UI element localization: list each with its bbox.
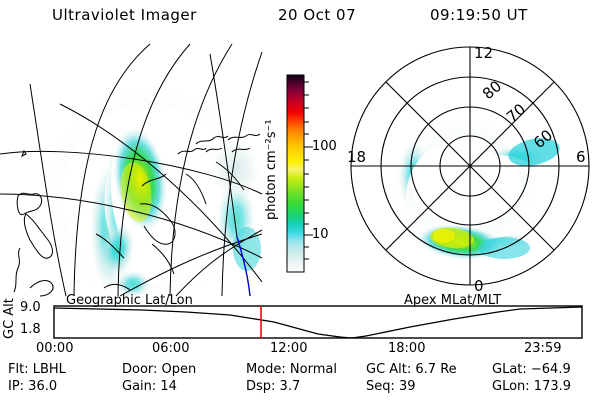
svg-text:6: 6: [576, 148, 586, 166]
orbit-ytick-min: 1.8: [20, 322, 41, 337]
status-gain: Gain: 14: [122, 379, 177, 394]
status-bar: Flt: LBHL Door: Open Mode: Normal GC Alt…: [0, 362, 600, 400]
status-glat: GLat: −64.9: [492, 362, 571, 377]
status-row-bottom: IP: 36.0 Gain: 14 Dsp: 3.7 Seq: 39 GLon:…: [0, 379, 600, 396]
colorbar-gradient: [287, 75, 304, 272]
geographic-image-panel[interactable]: [0, 44, 262, 296]
svg-text:12: 12: [474, 44, 493, 62]
observation-date: 20 Oct 07: [278, 6, 356, 24]
page-title: Ultraviolet Imager: [52, 6, 197, 24]
orbit-xtick-4: 23:59: [524, 341, 561, 356]
mlt-panel-title: Apex MLat/MLT: [404, 293, 501, 308]
status-door: Door: Open: [122, 362, 196, 377]
status-gc-alt: GC Alt: 6.7 Re: [366, 362, 457, 377]
orbit-altitude-trace: [54, 307, 582, 338]
svg-text:80: 80: [479, 77, 505, 103]
geo-panel-title: Geographic Lat/Lon: [66, 293, 193, 308]
orbit-xtick-3: 18:00: [388, 341, 425, 356]
orbit-xtick-2: 12:00: [270, 341, 307, 356]
orbit-y-axis-label: GC Alt: [2, 296, 18, 342]
colorbar-axis-label: photon cm⁻²s⁻¹: [264, 95, 282, 245]
geo-aurora-emission: [40, 82, 261, 306]
orbit-xtick-1: 06:00: [152, 341, 189, 356]
orbit-ytick-max: 9.0: [20, 300, 41, 315]
status-mode: Mode: Normal: [246, 362, 337, 377]
colorbar-tick-10: 10: [312, 227, 329, 242]
observation-time: 09:19:50 UT: [430, 6, 528, 24]
status-glon: GLon: 173.9: [492, 379, 571, 394]
status-filter: Flt: LBHL: [8, 362, 66, 377]
mlt-spokes: [351, 47, 589, 285]
status-dsp: Dsp: 3.7: [246, 379, 300, 394]
svg-text:18: 18: [347, 148, 366, 166]
status-row-top: Flt: LBHL Door: Open Mode: Normal GC Alt…: [0, 362, 600, 379]
orbit-xtick-0: 00:00: [36, 341, 73, 356]
colorbar-tick-100: 100: [312, 139, 337, 154]
status-seq: Seq: 39: [366, 379, 416, 394]
status-ip: IP: 36.0: [8, 379, 57, 394]
mlt-dial-panel[interactable]: 12 6 0 18 60 70 80: [338, 44, 600, 296]
